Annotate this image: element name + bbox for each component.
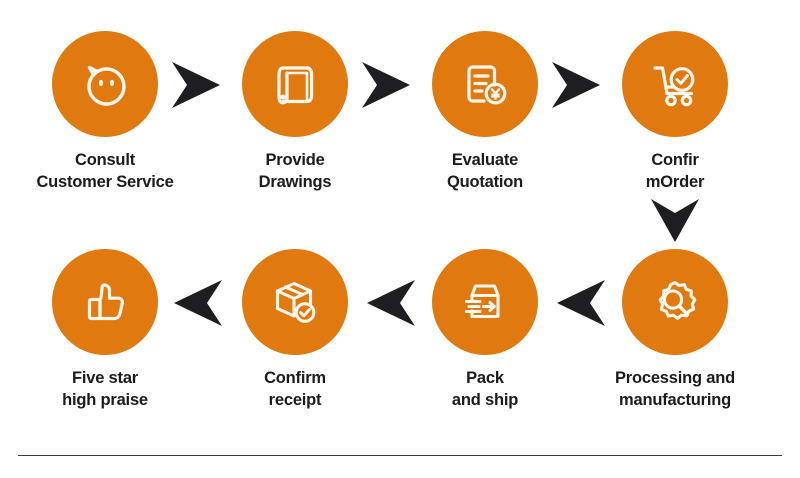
step-label: Provide Drawings [205, 150, 385, 194]
step-consult-customer-service[interactable]: Consult Customer Service [15, 31, 195, 194]
step-icon-circle [242, 249, 348, 355]
package-check-icon [268, 275, 322, 329]
step-icon-circle [242, 31, 348, 137]
step-icon-circle [52, 31, 158, 137]
box-shipping-arrow-icon [458, 275, 512, 329]
thumbs-up-icon [78, 275, 132, 329]
step-label: Five star high praise [15, 368, 195, 412]
gear-magnifier-icon [648, 275, 702, 329]
step-label: Pack and ship [395, 368, 575, 412]
step-confirm-order[interactable]: Confir mOrder [585, 31, 765, 194]
quotation-document-yen-icon [458, 57, 512, 111]
process-flow-diagram: Consult Customer Service Provide Drawing… [0, 0, 800, 478]
step-five-star-high-praise[interactable]: Five star high praise [15, 249, 195, 412]
customer-service-icon [77, 56, 133, 112]
step-icon-circle [622, 31, 728, 137]
step-label: Consult Customer Service [15, 150, 195, 194]
step-icon-circle [432, 31, 538, 137]
blueprint-scroll-icon [268, 57, 322, 111]
step-label: Confir mOrder [585, 150, 765, 194]
step-pack-and-ship[interactable]: Pack and ship [395, 249, 575, 412]
step-icon-circle [52, 249, 158, 355]
step-label: Confirm receipt [205, 368, 385, 412]
arrow-order-to-processing [648, 196, 702, 244]
bottom-divider [18, 455, 782, 456]
cart-check-icon [647, 57, 703, 111]
step-evaluate-quotation[interactable]: Evaluate Quotation [395, 31, 575, 194]
step-provide-drawings[interactable]: Provide Drawings [205, 31, 385, 194]
step-confirm-receipt[interactable]: Confirm receipt [205, 249, 385, 412]
step-icon-circle [622, 249, 728, 355]
step-label: Processing and manufacturing [585, 368, 765, 412]
step-label: Evaluate Quotation [395, 150, 575, 194]
step-processing-and-manufacturing[interactable]: Processing and manufacturing [585, 249, 765, 412]
step-icon-circle [432, 249, 538, 355]
